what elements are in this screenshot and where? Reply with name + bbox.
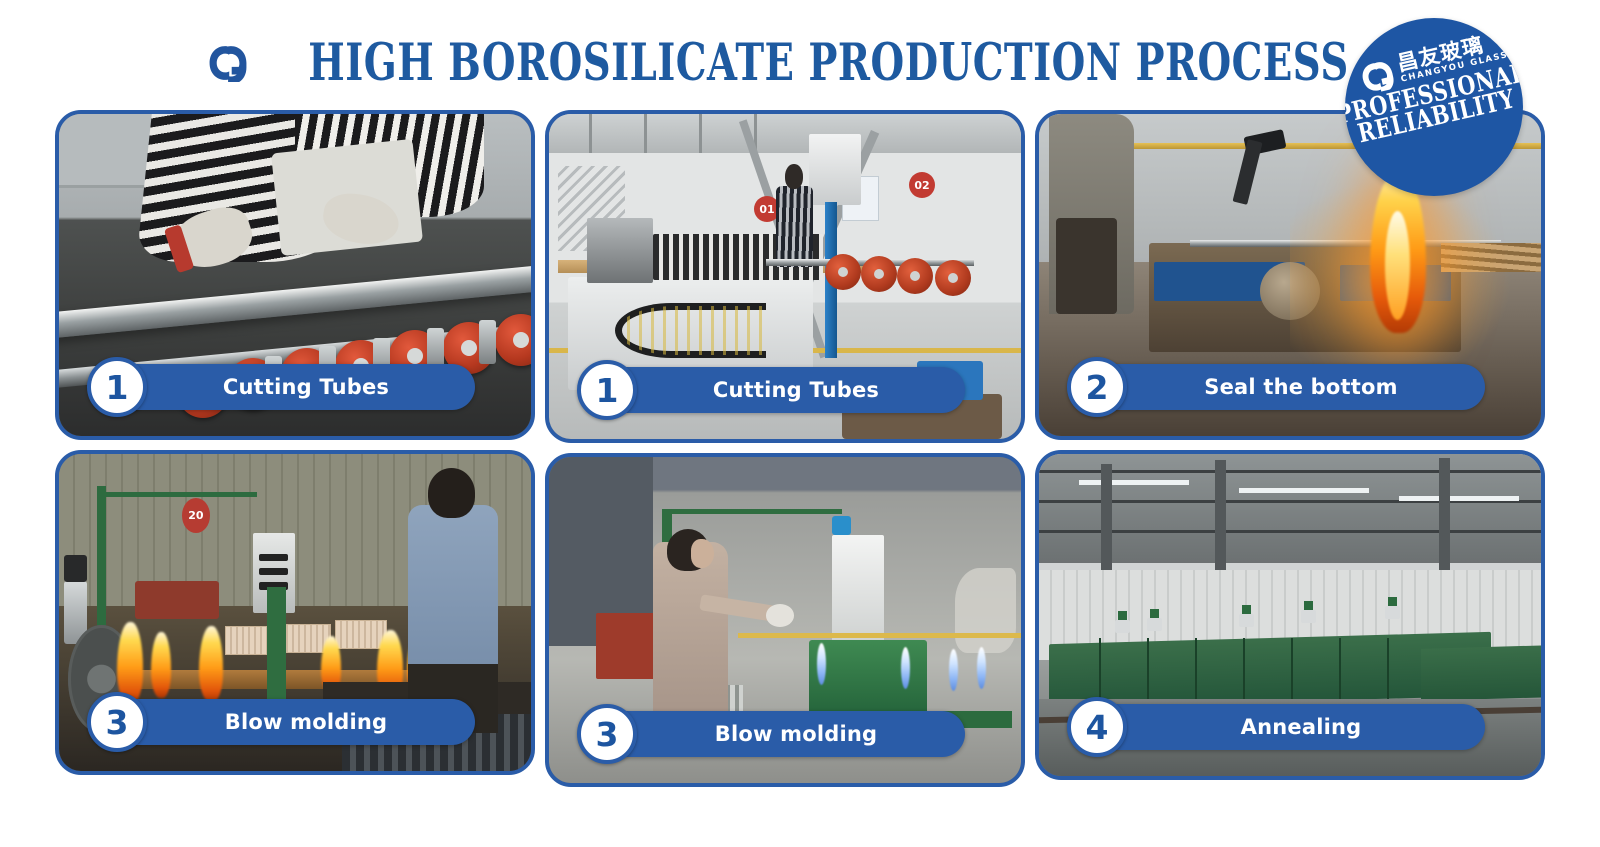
step-number-badge: 1 [577, 360, 637, 420]
step-caption: 1 Cutting Tubes [87, 364, 475, 410]
step-label: Seal the bottom [1093, 364, 1485, 410]
process-step-card[interactable]: 1 Cutting Tubes [55, 110, 535, 440]
wall-sign: 20 [182, 498, 210, 533]
process-step-card[interactable]: 20 3 Blow molding [55, 450, 535, 775]
step-number-badge: 3 [577, 704, 637, 764]
step-number-badge: 4 [1067, 697, 1127, 757]
process-step-card[interactable]: 3 Blow molding [545, 453, 1025, 787]
step-label: Blow molding [113, 699, 475, 745]
step-label: Cutting Tubes [113, 364, 475, 410]
step-caption: 3 Blow molding [577, 711, 965, 757]
step-number-badge: 3 [87, 692, 147, 752]
process-step-card[interactable]: 01 02 1 Cutting Tubes [545, 110, 1025, 443]
step-number-badge: 1 [87, 357, 147, 417]
step-label: Cutting Tubes [603, 367, 965, 413]
step-caption: 3 Blow molding [87, 699, 475, 745]
step-label: Annealing [1093, 704, 1485, 750]
step-caption: 1 Cutting Tubes [577, 367, 965, 413]
step-caption: 2 Seal the bottom [1067, 364, 1485, 410]
wall-sign: 02 [909, 172, 935, 198]
step-number-badge: 2 [1067, 357, 1127, 417]
step-caption: 4 Annealing [1067, 704, 1485, 750]
process-step-card[interactable]: 4 Annealing [1035, 450, 1545, 780]
step-label: Blow molding [603, 711, 965, 757]
company-seal-badge[interactable]: 昌友玻璃 CHANGYOU GLASS PROFESSIONAL RELIABI… [1345, 18, 1523, 196]
